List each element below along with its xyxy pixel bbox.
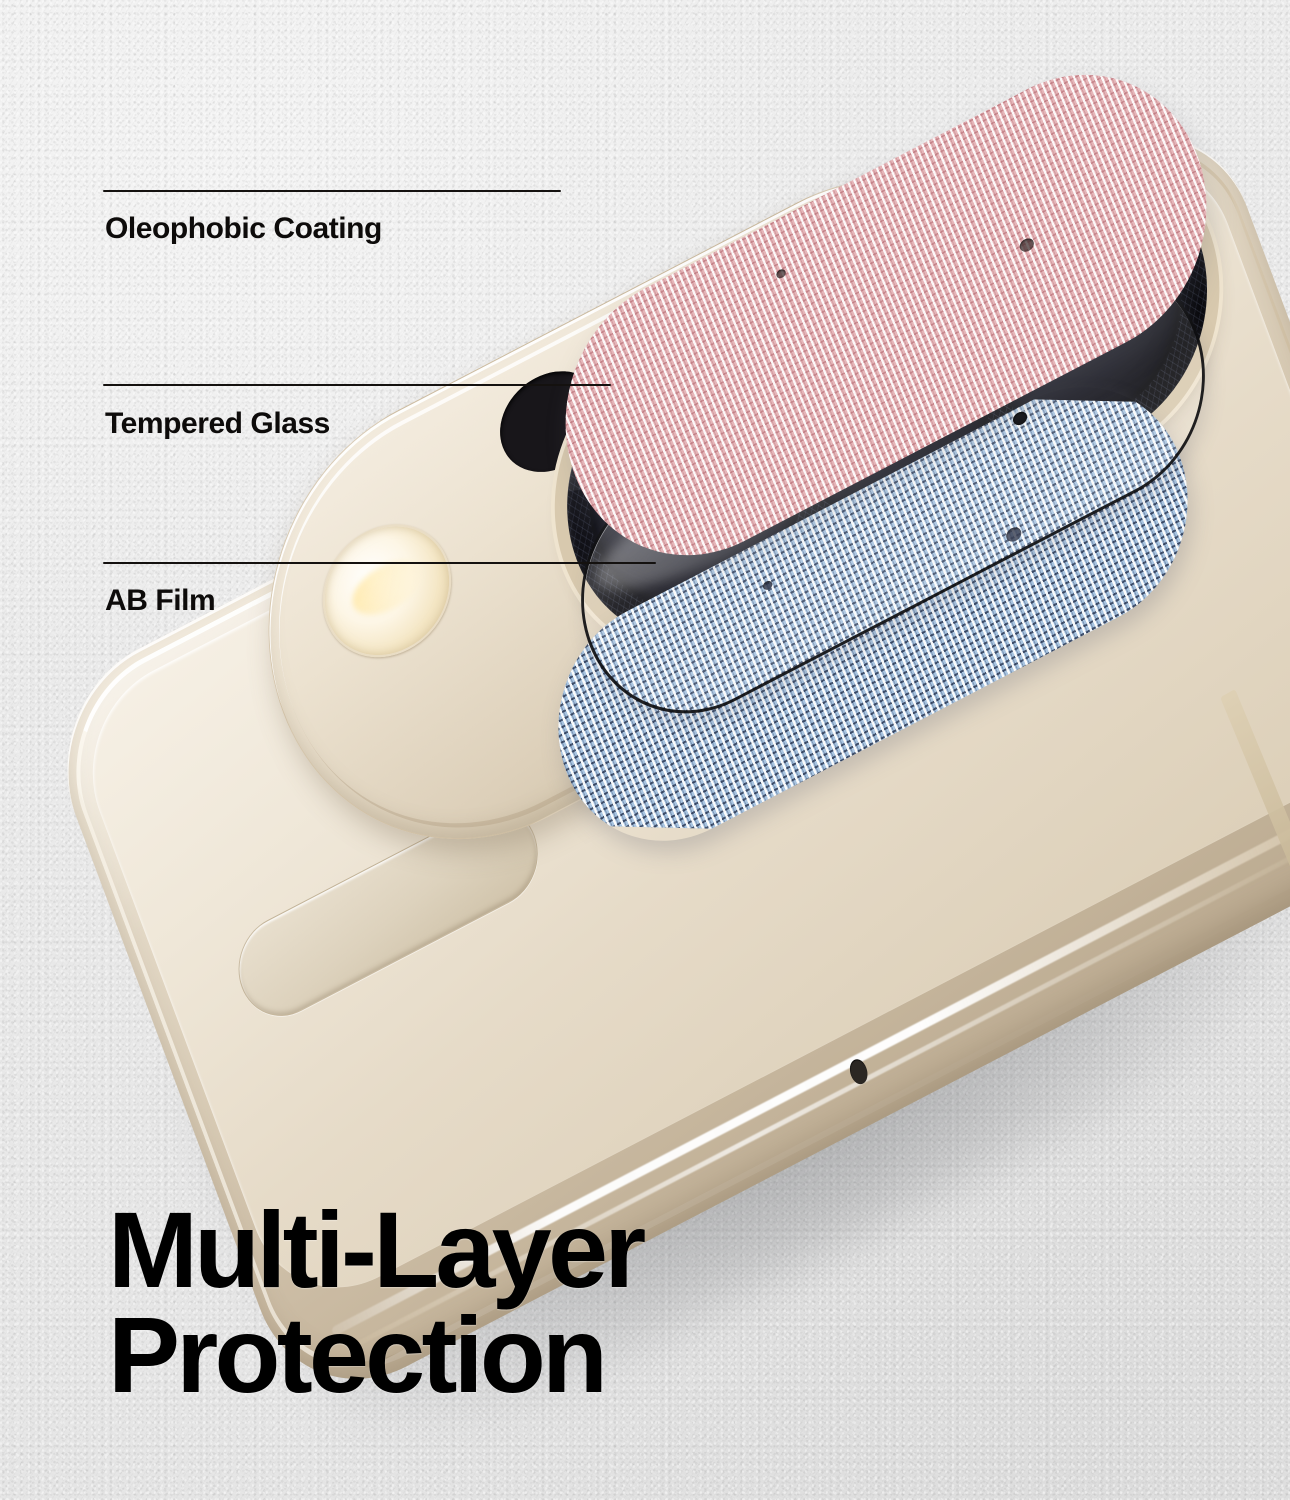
headline-line-2: Protection	[108, 1303, 643, 1408]
page-title: Multi-Layer Protection	[108, 1198, 643, 1408]
tempered-glass-hole	[1011, 409, 1029, 427]
product-scene: Oleophobic Coating Tempered Glass AB Fil…	[0, 0, 1290, 1500]
callout-leader-line	[103, 562, 656, 564]
callout-label: AB Film	[105, 584, 215, 618]
callout-label: Oleophobic Coating	[105, 212, 382, 246]
callout-leader-line	[103, 190, 561, 192]
callout-label: Tempered Glass	[105, 407, 330, 441]
headline-line-1: Multi-Layer	[108, 1198, 643, 1303]
callout-leader-line	[103, 384, 611, 386]
